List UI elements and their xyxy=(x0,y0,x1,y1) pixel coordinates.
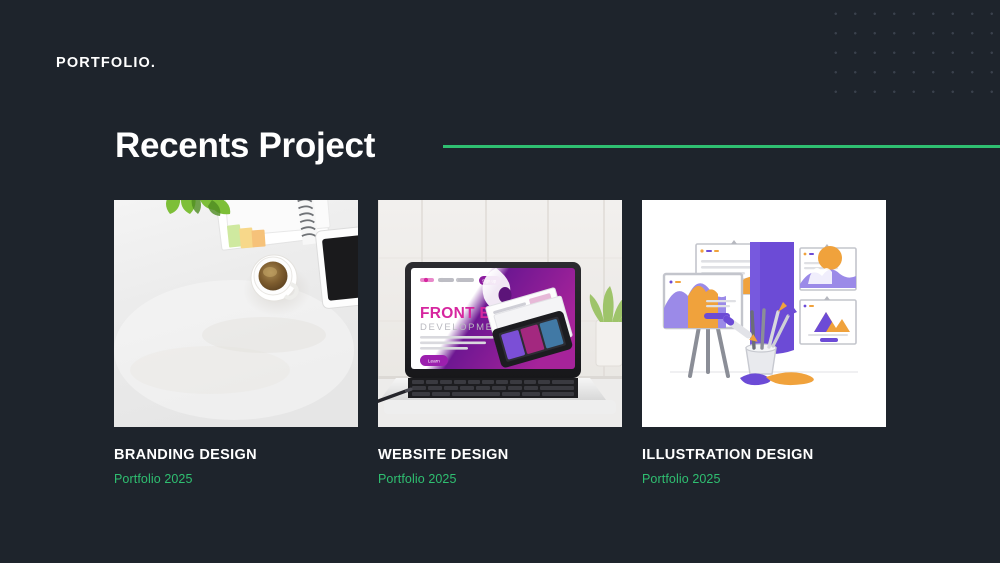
project-card[interactable]: Sign up FRONT END DEVELOPMENT Learn xyxy=(378,200,622,486)
title-row: Recents Project xyxy=(115,118,1000,174)
brand-logo: PORTFOLIO. xyxy=(56,55,156,71)
dot-grid-pattern xyxy=(824,0,1000,96)
project-card[interactable]: ILLUSTRATION DESIGN Portfolio 2025 xyxy=(642,200,886,486)
project-card-list: BRANDING DESIGN Portfolio 2025 xyxy=(114,200,886,486)
card-subtitle: Portfolio 2025 xyxy=(114,472,358,486)
card-title: WEBSITE DESIGN xyxy=(378,447,622,463)
art-studio-illustration[interactable] xyxy=(642,200,886,427)
card-subtitle: Portfolio 2025 xyxy=(378,472,622,486)
svg-text:Learn: Learn xyxy=(428,359,440,364)
title-accent-rule xyxy=(443,145,1000,148)
card-subtitle: Portfolio 2025 xyxy=(642,472,886,486)
laptop-website-photo[interactable]: Sign up FRONT END DEVELOPMENT Learn xyxy=(378,200,622,427)
portfolio-slide: PORTFOLIO. Recents Project xyxy=(0,0,1000,563)
card-title: BRANDING DESIGN xyxy=(114,447,358,463)
project-card[interactable]: BRANDING DESIGN Portfolio 2025 xyxy=(114,200,358,486)
card-title: ILLUSTRATION DESIGN xyxy=(642,447,886,463)
desk-flatlay-photo[interactable] xyxy=(114,200,358,427)
page-title: Recents Project xyxy=(115,126,375,166)
